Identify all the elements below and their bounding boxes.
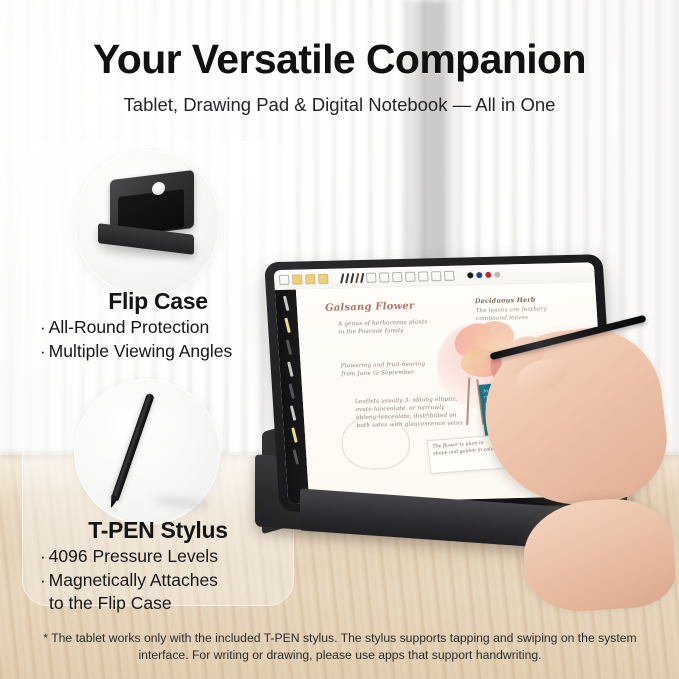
color-swatch-red[interactable] xyxy=(485,271,491,277)
note-title: Galsang Flower xyxy=(325,301,415,314)
marker-icon[interactable] xyxy=(355,273,359,283)
bullet-dot-icon: · xyxy=(40,318,46,337)
page-subheadline: Tablet, Drawing Pad & Digital Notebook —… xyxy=(88,92,591,117)
bullet-dot-icon: · xyxy=(40,571,46,590)
tray-pen-2[interactable] xyxy=(286,340,292,355)
list-item: ·4096 Pressure Levels xyxy=(40,545,284,569)
tray-highlighter[interactable] xyxy=(284,318,290,333)
bullet-text: 4096 Pressure Levels xyxy=(49,546,218,566)
flip-case-icon xyxy=(92,171,210,275)
footnote-disclaimer: * The tablet works only with the include… xyxy=(40,630,640,664)
list-item: ·All-Round Protection xyxy=(40,316,284,340)
color-swatch-black[interactable] xyxy=(467,272,473,278)
bullet-text: Multiple Viewing Angles xyxy=(49,341,233,361)
sticky-note-icon[interactable] xyxy=(418,271,429,281)
stylus-tip xyxy=(107,495,118,509)
redo-icon[interactable] xyxy=(345,273,349,283)
undo-icon[interactable] xyxy=(340,273,344,283)
note-paragraph-1: A genus of herbaceous plants in the Poac… xyxy=(338,318,431,336)
eraser-icon[interactable] xyxy=(366,272,377,282)
feature-bullets-flip-case: ·All-Round Protection ·Multiple Viewing … xyxy=(40,316,284,363)
bullet-text: All-Round Protection xyxy=(49,317,210,337)
list-item: ·Multiple Viewing Angles xyxy=(40,340,284,364)
stylus-shadow xyxy=(153,495,212,510)
stylus-icon xyxy=(95,392,205,514)
back-icon[interactable] xyxy=(279,274,290,284)
note-icon[interactable] xyxy=(292,274,303,284)
tray-pen-3[interactable] xyxy=(287,362,293,377)
tray-pen-7[interactable] xyxy=(293,449,299,464)
feature-title-flip-case: Flip Case xyxy=(22,288,294,315)
note-paragraph-2: Flowering and fruit-bearing from June to… xyxy=(341,360,434,378)
text-icon[interactable] xyxy=(444,270,455,280)
color-swatch-blue[interactable] xyxy=(476,272,482,278)
annotation-text: The flower is plum in shape and golden i… xyxy=(432,440,497,458)
feature-title-stylus: T-PEN Stylus xyxy=(22,517,294,544)
list-item: ·Magnetically Attaches xyxy=(40,569,284,593)
bullet-text: to the Flip Case xyxy=(49,593,172,613)
rectangle-icon[interactable] xyxy=(392,272,403,282)
note-right-heading: Deciduous Herb xyxy=(475,295,554,305)
color-swatch-grey[interactable] xyxy=(494,271,500,277)
bullet-dot-icon: · xyxy=(40,547,46,566)
feature-bullets-stylus: ·4096 Pressure Levels ·Magnetically Atta… xyxy=(40,545,284,616)
page-headline: Your Versatile Companion xyxy=(0,36,679,83)
shape-icon[interactable] xyxy=(379,272,390,282)
page-icon[interactable] xyxy=(305,274,316,284)
tray-pen-4[interactable] xyxy=(288,384,294,399)
pen-icon[interactable] xyxy=(360,272,364,282)
bullet-text: Magnetically Attaches xyxy=(49,570,218,590)
pencil-icon[interactable] xyxy=(350,273,354,283)
stylus-body xyxy=(111,393,155,502)
tray-pen-5[interactable] xyxy=(290,405,296,420)
copy-icon[interactable] xyxy=(318,273,329,283)
list-item: to the Flip Case xyxy=(40,592,284,616)
lasso-icon[interactable] xyxy=(431,271,442,281)
product-feature-image: Your Versatile Companion Tablet, Drawing… xyxy=(0,0,679,679)
tray-pen-6[interactable] xyxy=(291,427,297,442)
image-icon[interactable] xyxy=(405,271,416,281)
bullet-dot-icon: · xyxy=(40,342,46,361)
